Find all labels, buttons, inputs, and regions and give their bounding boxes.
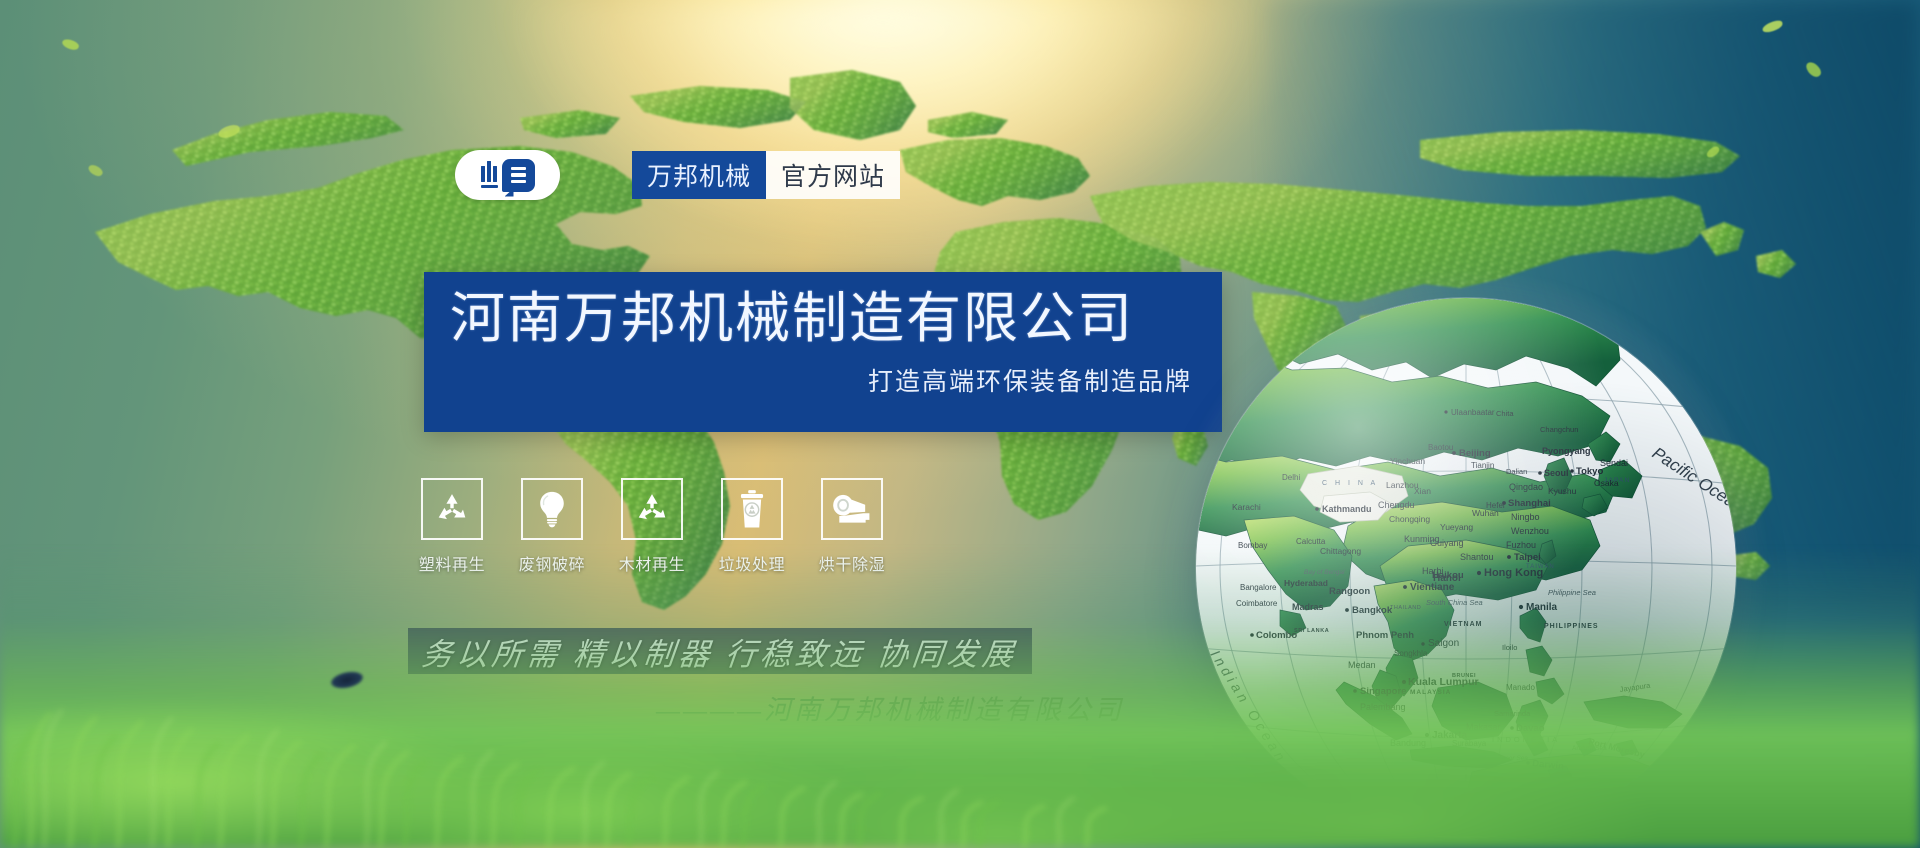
svg-text:Beijing: Beijing: [1459, 448, 1491, 459]
feature-icon-box: [821, 478, 883, 540]
svg-text:Kathmandu: Kathmandu: [1322, 504, 1372, 514]
svg-text:Chongqing: Chongqing: [1389, 514, 1430, 524]
site-logo-header[interactable]: 万邦机械 官方网站: [455, 150, 900, 200]
svg-text:Seoul: Seoul: [1544, 468, 1569, 478]
svg-text:Kyushu: Kyushu: [1548, 486, 1577, 496]
svg-text:Karachi: Karachi: [1232, 502, 1261, 512]
page-title: 河南万邦机械制造有限公司: [450, 288, 1196, 350]
svg-text:Osaka: Osaka: [1594, 478, 1619, 488]
company-title-banner: 河南万邦机械制造有限公司 打造高端环保装备制造品牌: [424, 272, 1222, 432]
svg-text:Hefei: Hefei: [1486, 501, 1505, 510]
feature-icon-box: [421, 478, 483, 540]
trash-bin-recycle-icon: [737, 489, 767, 529]
feature-icon-box: [621, 478, 683, 540]
tab-brand-name[interactable]: 万邦机械: [632, 151, 766, 199]
page-subtitle: 打造高端环保装备制造品牌: [450, 362, 1196, 398]
svg-text:Tianjin: Tianjin: [1471, 461, 1494, 470]
tab-official-site[interactable]: 官方网站: [766, 151, 900, 199]
svg-text:Pyongyang: Pyongyang: [1542, 446, 1591, 456]
svg-text:Chita: Chita: [1496, 409, 1514, 418]
feature-icon-box: [521, 478, 583, 540]
logo-tab-group: 万邦机械 官方网站: [632, 151, 900, 199]
hero-banner-page: 万邦机械 官方网站 河南万邦机械制造有限公司 打造高端环保装备制造品牌 塑料再生: [0, 0, 1920, 848]
svg-text:Yueyang: Yueyang: [1440, 522, 1473, 532]
svg-text:C H I N A: C H I N A: [1322, 480, 1378, 487]
svg-text:Ningbo: Ningbo: [1511, 512, 1540, 522]
svg-text:Yinchuan: Yinchuan: [1390, 456, 1425, 466]
svg-text:Shanghai: Shanghai: [1508, 498, 1551, 509]
svg-text:Ulaanbaatar: Ulaanbaatar: [1451, 408, 1495, 417]
svg-text:Qingdao: Qingdao: [1509, 482, 1543, 492]
svg-text:Lanzhou: Lanzhou: [1386, 480, 1419, 490]
recycle-icon: [434, 491, 470, 527]
lightbulb-icon: [535, 490, 569, 528]
feature-icon-box: [721, 478, 783, 540]
svg-text:Calcutta: Calcutta: [1296, 537, 1326, 546]
b-speech-bubble-icon: [502, 159, 535, 192]
svg-text:Baotou: Baotou: [1428, 443, 1453, 452]
svg-text:Chengdu: Chengdu: [1378, 500, 1415, 510]
grass-blades: [0, 618, 1920, 848]
svg-text:Dalian: Dalian: [1506, 467, 1527, 476]
w-underline-icon: [481, 185, 498, 188]
logo-badge[interactable]: [455, 150, 560, 200]
w-icon: [481, 162, 497, 183]
svg-text:Delhi: Delhi: [1282, 473, 1300, 482]
svg-text:Wenzhou: Wenzhou: [1511, 526, 1549, 536]
svg-text:Sendai: Sendai: [1600, 458, 1628, 468]
svg-text:Kunming: Kunming: [1404, 534, 1440, 544]
logo-w-mark: [481, 162, 498, 188]
svg-text:Changchun: Changchun: [1540, 425, 1578, 434]
recycle-icon: [634, 491, 670, 527]
dryer-blower-icon: [831, 493, 873, 525]
